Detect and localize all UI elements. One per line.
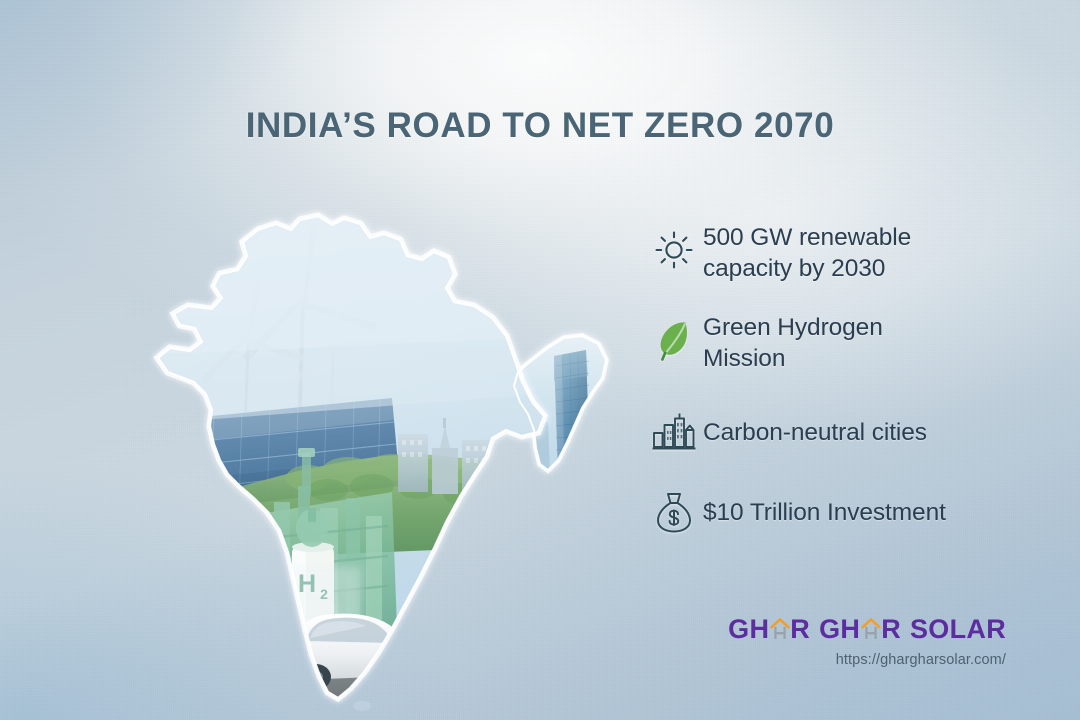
house-roof-a-icon-2 bbox=[861, 617, 881, 638]
house-roof-a-icon bbox=[770, 617, 790, 638]
india-map-graphic: H 2 bbox=[62, 186, 622, 716]
city-buildings-icon bbox=[645, 406, 703, 458]
map-mainland: H 2 bbox=[122, 206, 606, 716]
southern-isle bbox=[353, 701, 371, 711]
list-item-green-hydrogen: Green Hydrogen Mission bbox=[645, 312, 1045, 374]
list-item-carbon-neutral-cities: Carbon-neutral cities bbox=[645, 404, 1045, 460]
list-item-line1: Green Hydrogen bbox=[703, 314, 883, 341]
key-points-list: 500 GW renewable capacity by 2030 Green … bbox=[645, 222, 1045, 562]
logo-text-part5: SOLAR bbox=[910, 616, 1006, 643]
list-item-label: Green Hydrogen Mission bbox=[703, 312, 1045, 374]
logo-text-part4: R bbox=[881, 616, 901, 643]
list-item-investment: $10 Trillion Investment bbox=[645, 484, 1045, 540]
poster-canvas: INDIA’S ROAD TO NET ZERO 2070 bbox=[0, 0, 1080, 720]
brand-block: GH R GH R SOLAR https://ghargharsolar.co… bbox=[728, 616, 1006, 668]
logo-text-part1: GH bbox=[728, 616, 769, 643]
logo-text-part3: GH bbox=[819, 616, 860, 643]
list-item-label: 500 GW renewable capacity by 2030 bbox=[703, 222, 1045, 284]
leaf-icon bbox=[645, 312, 703, 368]
logo-text-part2: R bbox=[790, 616, 810, 643]
sun-icon bbox=[645, 222, 703, 278]
india-map-svg: H 2 bbox=[62, 186, 622, 716]
list-item-renewable-capacity: 500 GW renewable capacity by 2030 bbox=[645, 222, 1045, 284]
ev-charging-station bbox=[252, 578, 294, 679]
list-item-line1: 500 GW renewable bbox=[703, 224, 911, 251]
list-item-label: Carbon-neutral cities bbox=[703, 416, 1045, 448]
page-title: INDIA’S ROAD TO NET ZERO 2070 bbox=[0, 106, 1080, 146]
brand-url[interactable]: https://ghargharsolar.com/ bbox=[728, 652, 1006, 668]
list-item-label: $10 Trillion Investment bbox=[703, 496, 1045, 528]
brand-logo[interactable]: GH R GH R SOLAR bbox=[728, 616, 1006, 643]
list-item-line2: capacity by 2030 bbox=[703, 255, 885, 282]
list-item-line2: Mission bbox=[703, 345, 785, 372]
money-bag-icon bbox=[645, 486, 703, 538]
